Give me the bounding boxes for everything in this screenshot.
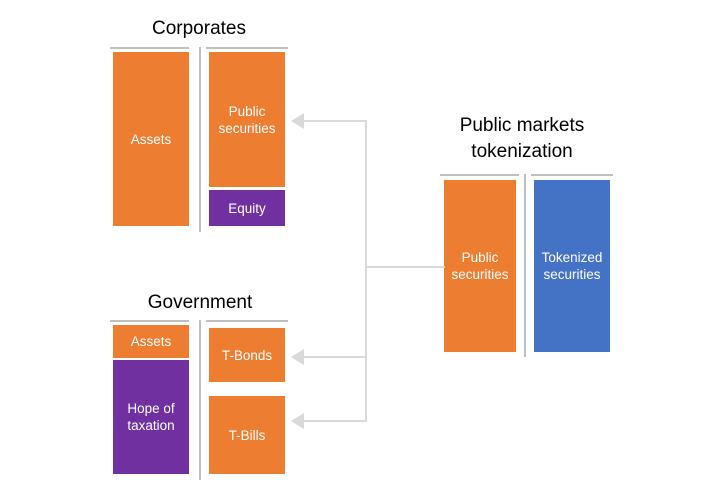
arrowhead-to-government-t-bonds <box>291 349 304 365</box>
government-assets-box[interactable]: Assets <box>113 325 189 358</box>
tokenization-tokenized-securities-box[interactable]: Tokenized securities <box>534 180 610 352</box>
connector-to-government-t-bonds <box>304 356 367 358</box>
corporates-equity-box[interactable]: Equity <box>209 190 285 226</box>
government-t-bills-box[interactable]: T-Bills <box>209 396 285 474</box>
tokenization-center-divider <box>524 174 526 357</box>
tokenization-left-rule <box>440 174 519 176</box>
corporates-center-divider <box>199 47 201 232</box>
corporates-assets-box[interactable]: Assets <box>113 52 189 226</box>
tokenization-right-rule <box>531 174 613 176</box>
government-center-divider <box>199 320 201 480</box>
tokenization-public-securities-box[interactable]: Public securities <box>444 180 516 352</box>
government-left-rule <box>110 320 189 322</box>
government-hope-of-taxation-box[interactable]: Hope of taxation <box>113 360 189 474</box>
connector-to-government-t-bills <box>304 420 367 422</box>
connector-trunk-stub <box>365 266 445 268</box>
corporates-right-rule <box>206 47 288 49</box>
government-t-bonds-box[interactable]: T-Bonds <box>209 328 285 382</box>
group-heading-public-markets-tokenization: Public markets tokenization <box>432 113 612 165</box>
arrowhead-to-government-t-bills <box>291 413 304 429</box>
connector-spine-lower <box>365 266 367 421</box>
connector-to-corporate-public-securities <box>304 120 367 122</box>
group-heading-government: Government <box>110 290 290 316</box>
connector-spine-upper <box>365 120 367 268</box>
corporates-left-rule <box>110 47 189 49</box>
diagram-canvas: Corporates Assets Public securities Equi… <box>0 0 720 497</box>
group-heading-corporates: Corporates <box>113 16 285 42</box>
government-right-rule <box>206 320 288 322</box>
arrowhead-to-corporate-public-securities <box>291 113 304 129</box>
corporates-public-securities-box[interactable]: Public securities <box>209 52 285 187</box>
